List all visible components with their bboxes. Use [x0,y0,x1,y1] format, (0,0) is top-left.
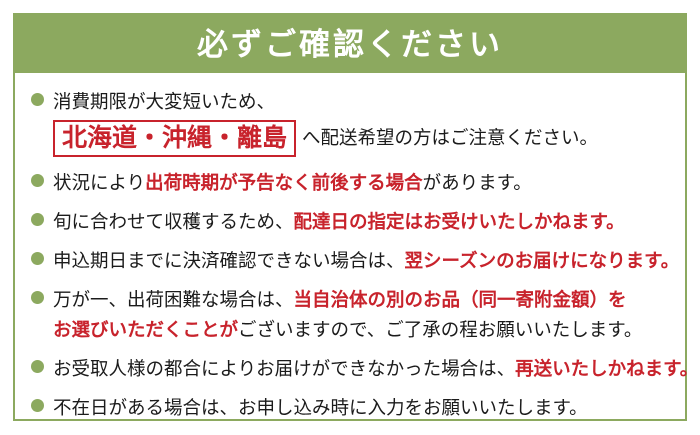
shipping-timing-line: 状況により出荷時期が予告なく前後する場合があります。 [53,168,669,198]
substitute-item-line2: お選びいただくことがございますので、ご了承の程お願いいたします。 [53,315,669,345]
list-item-delivery-date: 旬に合わせて収穫するため、配達日の指定はお受けいたしかねます。 [31,207,669,237]
segment-black: 不在日がある場合は、お申し込み時に入力をお願いいたします。 [53,397,588,418]
segment-black: 状況により [53,172,145,193]
list-item-text: 旬に合わせて収穫するため、配達日の指定はお受けいたしかねます。 [53,207,669,237]
segment-black: 万が一、出荷困難な場合は、 [53,289,294,310]
segment-red: 出荷時期が予告なく前後する場合 [145,172,423,193]
page-title: 必ずご確認ください [197,29,503,60]
list-item-text: 状況により出荷時期が予告なく前後する場合があります。 [53,168,669,198]
segment-black: 旬に合わせて収穫するため、 [53,211,294,232]
list-item-text: お受取人様の都合によりお届けができなかった場合は、再送いたしかねます。 [53,354,698,384]
segment-black: ございますので、ご了承の程お願いいたします。 [238,319,642,340]
perishable-line2: 北海道・沖縄・離島へ配送希望の方はご注意ください。 [53,117,669,159]
notice-card: 必ずご確認ください 消費期限が大変短いため、 北海道・沖縄・離島へ配送希望の方は… [13,13,687,421]
region-callout-suffix: へ配送希望の方はご注意ください。 [302,127,598,148]
bullet-dot-icon [31,360,44,373]
bullet-dot-icon [31,93,44,106]
delivery-date-line: 旬に合わせて収穫するため、配達日の指定はお受けいたしかねます。 [53,207,669,237]
segment-red: 翌シーズンのお届けになります。 [405,250,680,271]
list-item-substitute-item: 万が一、出荷困難な場合は、当自治体の別のお品（同一寄附金額）を お選びいただくこ… [31,285,669,345]
list-item-no-redelivery: お受取人様の都合によりお届けができなかった場合は、再送いたしかねます。 [31,354,669,384]
list-item-text: 消費期限が大変短いため、 北海道・沖縄・離島へ配送希望の方はご注意ください。 [53,87,669,159]
list-item-payment-deadline: 申込期日までに決済確認できない場合は、翌シーズンのお届けになります。 [31,246,669,276]
substitute-item-line1: 万が一、出荷困難な場合は、当自治体の別のお品（同一寄附金額）を [53,285,669,315]
list-item-text: 万が一、出荷困難な場合は、当自治体の別のお品（同一寄附金額）を お選びいただくこ… [53,285,669,345]
payment-deadline-line: 申込期日までに決済確認できない場合は、翌シーズンのお届けになります。 [53,246,679,276]
bullet-dot-icon [31,399,44,412]
list-item-text: 申込期日までに決済確認できない場合は、翌シーズンのお届けになります。 [53,246,679,276]
bullet-dot-icon [31,291,44,304]
segment-red: 当自治体の別のお品（同一寄附金額）を [294,289,627,310]
list-item-absence-dates: 不在日がある場合は、お申し込み時に入力をお願いいたします。 [31,393,669,423]
no-redelivery-line: お受取人様の都合によりお届けができなかった場合は、再送いたしかねます。 [53,354,698,384]
segment-black: 申込期日までに決済確認できない場合は、 [53,250,405,271]
segment-red: 配達日の指定はお受けいたしかねます。 [294,211,625,232]
list-item-text: 不在日がある場合は、お申し込み時に入力をお願いいたします。 [53,393,669,423]
notice-header: 必ずご確認ください [15,15,685,73]
segment-black: があります。 [423,172,532,193]
bullet-dot-icon [31,252,44,265]
absence-dates-line: 不在日がある場合は、お申し込み時に入力をお願いいたします。 [53,393,669,423]
segment-black: お受取人様の都合によりお届けができなかった場合は、 [53,358,515,379]
list-item-perishable-shipping: 消費期限が大変短いため、 北海道・沖縄・離島へ配送希望の方はご注意ください。 [31,87,669,159]
segment-red: お選びいただくことが [53,319,238,340]
segment-red: 再送いたしかねます。 [515,358,698,379]
region-callout-box: 北海道・沖縄・離島 [53,120,296,157]
bullet-dot-icon [31,174,44,187]
list-item-shipping-timing: 状況により出荷時期が予告なく前後する場合があります。 [31,168,669,198]
perishable-line1: 消費期限が大変短いため、 [53,87,669,117]
bullet-dot-icon [31,213,44,226]
notice-list: 消費期限が大変短いため、 北海道・沖縄・離島へ配送希望の方はご注意ください。 状… [15,73,685,433]
